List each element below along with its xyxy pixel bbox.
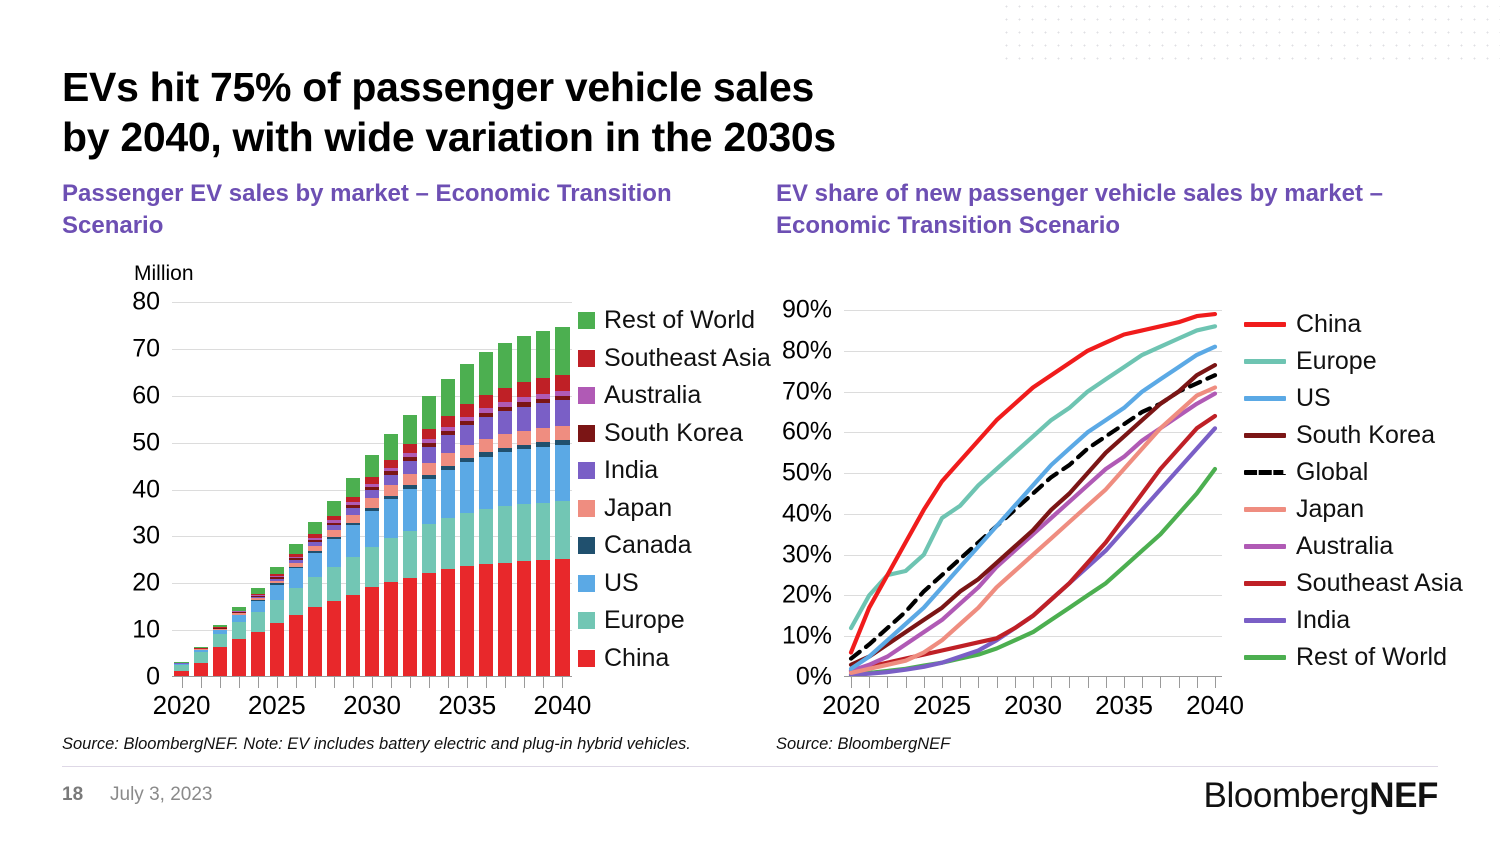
left-chart-bar-segment (441, 453, 455, 466)
left-chart-x-tick-label: 2040 (534, 690, 592, 721)
left-chart-bar (460, 364, 474, 677)
legend-swatch-icon (578, 650, 595, 667)
left-chart-bar (346, 478, 360, 677)
left-chart-bar-segment (346, 478, 360, 496)
left-chart-bar-segment (251, 612, 265, 631)
left-chart-bar-column (420, 302, 439, 677)
left-chart-x-tick (372, 677, 373, 688)
left-chart-bar-segment (498, 411, 512, 434)
left-chart-legend-item[interactable]: Japan (578, 490, 771, 528)
left-chart-x-tick (315, 677, 316, 688)
footer-divider (62, 766, 1438, 767)
left-chart-bar-segment (498, 343, 512, 388)
left-chart-bar-segment (251, 632, 265, 677)
right-chart-x-tick (1160, 677, 1161, 688)
right-chart-legend-label: Southeast Asia (1296, 569, 1463, 598)
left-chart-bar (251, 588, 265, 677)
left-chart-bar-segment (460, 445, 474, 458)
left-chart-bar (479, 352, 493, 677)
right-chart-legend-label: Rest of World (1296, 643, 1447, 672)
left-chart-bar-segment (422, 429, 436, 439)
left-chart-x-tick (486, 677, 487, 688)
right-chart-legend-item[interactable]: South Korea (1244, 417, 1463, 454)
right-chart-x-tick (887, 677, 888, 688)
left-chart-bar-segment (213, 647, 227, 677)
brand-light: Bloomberg (1204, 776, 1370, 815)
right-chart-legend-label: India (1296, 606, 1350, 635)
left-chart-x-tick-label: 2025 (248, 690, 306, 721)
left-chart-bar-segment (403, 461, 417, 474)
left-chart-x-tick (334, 677, 335, 688)
right-chart-x-tick (924, 677, 925, 688)
left-chart-x-tick (562, 677, 563, 688)
left-chart-bar-segment (555, 445, 569, 501)
left-chart-x-tick-label: 2020 (153, 690, 211, 721)
legend-line-icon (1244, 544, 1286, 549)
page-title-line-2: by 2040, with wide variation in the 2030… (62, 112, 1062, 162)
legend-swatch-icon (578, 387, 595, 404)
left-chart-bar-segment (498, 452, 512, 506)
left-chart-bar-segment (308, 577, 322, 607)
right-chart-x-tick (1142, 677, 1143, 688)
left-chart-bar-segment (384, 499, 398, 538)
left-chart-legend-item[interactable]: Rest of World (578, 302, 771, 340)
left-chart-bar (403, 415, 417, 677)
left-chart-bar-segment (479, 509, 493, 564)
left-chart-bar-segment (365, 547, 379, 587)
right-chart-line (851, 365, 1215, 665)
left-chart-bar-segment (536, 378, 550, 394)
left-chart-bar-segment (422, 463, 436, 475)
left-chart-bar (289, 544, 303, 677)
left-chart-bar-segment (232, 639, 246, 677)
right-chart-y-tick-label: 40% (782, 499, 832, 528)
legend-line-icon (1244, 322, 1286, 327)
left-chart-bar-segment (517, 561, 531, 677)
left-chart-bar-column (210, 302, 229, 677)
left-chart-bar-segment (270, 600, 284, 623)
left-chart-legend-item[interactable]: China (578, 640, 771, 678)
left-chart-x-tick (353, 677, 354, 688)
left-chart-bar-segment (517, 407, 531, 431)
left-chart-bar-column (439, 302, 458, 677)
page-title: EVs hit 75% of passenger vehicle sales b… (62, 62, 1062, 162)
left-chart-bar-segment (422, 524, 436, 573)
right-chart-legend: ChinaEuropeUSSouth KoreaGlobalJapanAustr… (1244, 306, 1463, 676)
left-chart-x-labels: 20202025203020352040 (172, 690, 572, 722)
left-chart-legend: Rest of WorldSoutheast AsiaAustraliaSout… (578, 302, 771, 677)
left-chart-bar-segment (251, 601, 265, 612)
left-chart-bar-column (229, 302, 248, 677)
left-chart-bar-segment (441, 470, 455, 518)
left-chart-bar-segment (517, 504, 531, 561)
legend-swatch-icon (578, 612, 595, 629)
right-chart-x-tick-label: 2025 (913, 690, 971, 721)
left-chart-x-tick (182, 677, 183, 688)
right-chart-x-tick (1197, 677, 1198, 688)
left-chart-bar-segment (308, 522, 322, 534)
legend-line-icon (1244, 618, 1286, 623)
right-chart-series-lines (844, 310, 1222, 677)
left-chart-bar-segment (479, 439, 493, 453)
right-chart-x-tick (1088, 677, 1089, 688)
right-chart-panel: 0%10%20%30%40%50%60%70%80%90% 2020202520… (776, 262, 1476, 762)
left-chart-bar-segment (536, 560, 550, 677)
left-chart-x-tick-label: 2035 (438, 690, 496, 721)
left-chart-panel: Million 01020304050607080 20202025203020… (62, 262, 742, 762)
left-chart-y-tick-label: 10 (132, 616, 160, 645)
right-chart-legend-item[interactable]: Global (1244, 454, 1463, 491)
left-chart-bar-segment (441, 518, 455, 569)
left-chart-bar-segment (384, 538, 398, 582)
left-chart-x-tick-label: 2030 (343, 690, 401, 721)
left-chart-bar-segment (517, 431, 531, 445)
legend-line-icon (1244, 396, 1286, 401)
right-chart-legend-label: China (1296, 310, 1361, 339)
left-chart-bar-column (515, 302, 534, 677)
left-chart-legend-item[interactable]: South Korea (578, 415, 771, 453)
left-chart-bar (194, 647, 208, 677)
left-chart-bar-segment (517, 382, 531, 397)
legend-line-icon (1244, 655, 1286, 660)
left-chart-bar-segment (346, 557, 360, 594)
left-chart-bar-segment (384, 485, 398, 495)
left-chart-bar-segment (517, 336, 531, 382)
left-chart-bar-segment (403, 489, 417, 532)
left-chart-bar-segment (289, 544, 303, 554)
right-chart-legend-label: Japan (1296, 495, 1364, 524)
left-chart-bar-segment (403, 474, 417, 485)
left-chart-x-tick (391, 677, 392, 688)
right-chart-legend-label: South Korea (1296, 421, 1435, 450)
left-chart-bar-column (553, 302, 572, 677)
left-chart-x-tick (239, 677, 240, 688)
left-chart-bar-segment (479, 457, 493, 510)
left-chart-legend-label: US (604, 569, 639, 598)
left-chart-x-tick (429, 677, 430, 688)
left-chart-bar-column (458, 302, 477, 677)
left-chart-bar-segment (479, 352, 493, 395)
footer-date: July 3, 2023 (110, 784, 212, 806)
left-chart-x-tick (467, 677, 468, 688)
left-chart-bar-segment (194, 652, 208, 663)
left-chart-legend-label: Australia (604, 381, 701, 410)
right-chart-legend-label: US (1296, 384, 1331, 413)
left-chart-bar (308, 522, 322, 677)
legend-swatch-icon (578, 537, 595, 554)
left-chart-y-tick-label: 50 (132, 428, 160, 457)
right-chart-x-tick (869, 677, 870, 688)
left-chart-bar-segment (346, 515, 360, 523)
right-chart-x-tick (978, 677, 979, 688)
legend-swatch-icon (578, 425, 595, 442)
right-chart-x-labels: 20202025203020352040 (844, 690, 1222, 722)
legend-line-icon (1244, 359, 1286, 364)
left-chart-y-tick-label: 40 (132, 475, 160, 504)
left-chart-bar-segment (289, 568, 303, 588)
left-chart-bar-segment (384, 475, 398, 486)
right-chart-y-tick-label: 60% (782, 418, 832, 447)
right-chart-line (851, 347, 1215, 669)
legend-swatch-icon (578, 462, 595, 479)
left-chart-bar-column (362, 302, 381, 677)
left-chart-bar-segment (536, 428, 550, 442)
left-chart-bars (172, 302, 572, 677)
left-chart-x-ticks (172, 677, 572, 688)
left-chart-bar (384, 434, 398, 677)
left-chart-bar-segment (270, 623, 284, 677)
left-chart-bar (517, 336, 531, 677)
left-chart-x-tick (258, 677, 259, 688)
right-chart-legend-label: Europe (1296, 347, 1377, 376)
left-chart-bar-column (286, 302, 305, 677)
left-chart-bar-segment (536, 447, 550, 503)
left-chart-bar-column (248, 302, 267, 677)
left-chart-bar-segment (479, 564, 493, 677)
left-chart-legend-item[interactable]: Southeast Asia (578, 340, 771, 378)
right-chart-y-tick-label: 0% (796, 663, 832, 692)
left-chart-unit-label: Million (134, 262, 194, 286)
right-chart-line (851, 326, 1215, 628)
left-chart-legend-item[interactable]: Canada (578, 527, 771, 565)
left-chart-source-note: Source: BloombergNEF. Note: EV includes … (62, 735, 691, 754)
left-chart-x-tick (410, 677, 411, 688)
left-chart-x-tick (448, 677, 449, 688)
legend-swatch-icon (578, 312, 595, 329)
right-chart-legend-item[interactable]: US (1244, 380, 1463, 417)
left-chart-bar-segment (479, 417, 493, 439)
left-chart-x-tick (220, 677, 221, 688)
right-chart-y-tick-label: 10% (782, 622, 832, 651)
right-chart-legend-label: Australia (1296, 532, 1393, 561)
legend-line-icon (1244, 581, 1286, 586)
right-chart-x-tick-label: 2020 (822, 690, 880, 721)
right-chart-x-tick (906, 677, 907, 688)
right-chart-x-ticks (844, 677, 1222, 688)
left-chart-bar (232, 607, 246, 677)
left-chart-bar-segment (365, 490, 379, 498)
left-chart-bar-segment (555, 426, 569, 440)
right-chart-y-tick-label: 50% (782, 459, 832, 488)
left-chart-bar-segment (536, 403, 550, 428)
right-chart-y-tick-label: 90% (782, 296, 832, 325)
left-chart-legend-label: Canada (604, 531, 692, 560)
legend-line-icon (1244, 507, 1286, 512)
left-chart-bar-segment (441, 379, 455, 416)
left-chart-bar-segment (555, 501, 569, 559)
right-chart-legend-item[interactable]: Australia (1244, 528, 1463, 565)
footer-page-number: 18 (62, 784, 83, 806)
left-chart-bar (270, 567, 284, 677)
left-chart-bar-segment (460, 462, 474, 513)
right-chart-y-tick-label: 20% (782, 581, 832, 610)
left-chart-bar-column (534, 302, 553, 677)
right-chart-subtitle: EV share of new passenger vehicle sales … (776, 178, 1416, 241)
left-chart-bar-segment (555, 400, 569, 426)
left-chart-bar-segment (555, 375, 569, 391)
legend-line-icon (1244, 470, 1286, 475)
left-chart-bar-segment (289, 615, 303, 677)
right-chart-x-tick (1106, 677, 1107, 688)
left-chart-bar-segment (365, 498, 379, 507)
right-chart-x-tick (942, 677, 943, 688)
left-chart-legend-item[interactable]: Europe (578, 602, 771, 640)
left-chart-bar-segment (327, 501, 341, 516)
left-chart-bar-column (343, 302, 362, 677)
left-chart-bar-segment (327, 601, 341, 677)
left-chart-bar-segment (555, 327, 569, 375)
left-chart-bar-segment (403, 444, 417, 453)
left-chart-bar-segment (460, 364, 474, 404)
left-chart-legend-item[interactable]: Australia (578, 377, 771, 415)
left-chart-bar-segment (498, 388, 512, 403)
legend-swatch-icon (578, 500, 595, 517)
right-chart-legend-label: Global (1296, 458, 1368, 487)
left-chart-bar-segment (289, 588, 303, 615)
left-chart-legend-label: Southeast Asia (604, 344, 771, 373)
right-chart-x-tick (1179, 677, 1180, 688)
right-chart-plot-area: 0%10%20%30%40%50%60%70%80%90% 2020202520… (844, 310, 1222, 677)
left-chart-bar-segment (384, 460, 398, 468)
left-chart-bar-segment (308, 553, 322, 577)
left-chart-bar-segment (270, 567, 284, 575)
left-chart-bar (213, 625, 227, 677)
right-chart-legend-item[interactable]: Southeast Asia (1244, 565, 1463, 602)
right-chart-x-tick (960, 677, 961, 688)
left-chart-legend-label: South Korea (604, 419, 743, 448)
left-chart-bar-column (496, 302, 515, 677)
left-chart-y-tick-label: 30 (132, 522, 160, 551)
left-chart-bar (422, 396, 436, 677)
left-chart-bar-segment (327, 539, 341, 567)
right-chart-x-tick-label: 2035 (1095, 690, 1153, 721)
left-chart-bar-segment (384, 434, 398, 459)
legend-swatch-icon (578, 575, 595, 592)
left-chart-bar-column (267, 302, 286, 677)
left-chart-bar (498, 343, 512, 677)
brand-bold: NEF (1369, 776, 1438, 815)
left-chart-bar-segment (536, 503, 550, 561)
left-chart-bar-segment (441, 569, 455, 677)
left-chart-y-tick-label: 80 (132, 288, 160, 317)
left-chart-bar-segment (517, 449, 531, 504)
right-chart-legend-item[interactable]: Rest of World (1244, 639, 1463, 676)
left-chart-x-tick (543, 677, 544, 688)
left-chart-bar-column (172, 302, 191, 677)
left-chart-bar-segment (213, 634, 227, 648)
left-chart-bar-segment (232, 622, 246, 638)
right-chart-legend-item[interactable]: Europe (1244, 343, 1463, 380)
left-chart-bar-segment (498, 434, 512, 448)
left-chart-y-tick-label: 20 (132, 569, 160, 598)
legend-line-icon (1244, 433, 1286, 438)
left-chart-bar-segment (270, 585, 284, 600)
left-chart-bar-segment (498, 506, 512, 562)
left-chart-bar-segment (460, 566, 474, 677)
left-chart-bar-segment (308, 607, 322, 677)
left-chart-y-tick-label: 0 (146, 663, 160, 692)
left-chart-bar-segment (422, 396, 436, 429)
left-chart-x-tick (277, 677, 278, 688)
left-chart-bar-segment (365, 455, 379, 477)
right-chart-x-tick (851, 677, 852, 688)
left-chart-legend-label: Rest of World (604, 306, 755, 335)
left-chart-bar-segment (403, 578, 417, 677)
left-chart-plot-area: 01020304050607080 20202025203020352040 (172, 302, 572, 677)
right-chart-x-tick (997, 677, 998, 688)
left-chart-bar-column (191, 302, 210, 677)
left-chart-bar-segment (479, 395, 493, 409)
left-chart-bar (555, 327, 569, 677)
legend-swatch-icon (578, 350, 595, 367)
left-chart-legend-item[interactable]: US (578, 565, 771, 603)
right-chart-legend-item[interactable]: Japan (1244, 491, 1463, 528)
right-chart-x-tick (1051, 677, 1052, 688)
left-chart-bar-column (477, 302, 496, 677)
left-chart-bar-segment (346, 595, 360, 678)
right-chart-y-tick-label: 70% (782, 377, 832, 406)
left-chart-bar-segment (403, 531, 417, 577)
left-chart-bar-segment (365, 587, 379, 677)
left-chart-y-tick-label: 70 (132, 334, 160, 363)
left-chart-bar-segment (422, 479, 436, 524)
left-chart-bar-segment (441, 435, 455, 453)
left-chart-legend-label: Europe (604, 606, 685, 635)
left-chart-bar-column (324, 302, 343, 677)
left-chart-bar-segment (460, 404, 474, 417)
right-chart-legend-item[interactable]: China (1244, 306, 1463, 343)
left-chart-bar-segment (232, 615, 246, 622)
right-chart-x-tick (1069, 677, 1070, 688)
right-chart-line (851, 428, 1215, 675)
left-chart-x-tick (296, 677, 297, 688)
left-chart-bar-segment (555, 559, 569, 677)
left-chart-y-tick-label: 60 (132, 381, 160, 410)
left-chart-legend-label: India (604, 456, 658, 485)
left-chart-bar-segment (403, 415, 417, 444)
right-chart-source-note: Source: BloombergNEF (776, 735, 950, 754)
left-chart-bar-segment (498, 563, 512, 677)
left-chart-bar-column (401, 302, 420, 677)
right-chart-y-tick-label: 80% (782, 336, 832, 365)
right-chart-legend-item[interactable]: India (1244, 602, 1463, 639)
right-chart-x-tick (1033, 677, 1034, 688)
left-chart-bar-column (382, 302, 401, 677)
right-chart-x-tick (1015, 677, 1016, 688)
dot-grid-decoration (1000, 0, 1500, 62)
left-chart-bar-segment (422, 447, 436, 462)
right-chart-x-tick-label: 2030 (1004, 690, 1062, 721)
left-chart-bar (536, 331, 550, 677)
left-chart-bar-segment (365, 511, 379, 547)
left-chart-bar-segment (441, 416, 455, 427)
left-chart-legend-label: China (604, 644, 669, 673)
left-chart-bar-segment (536, 331, 550, 378)
left-chart-bar-segment (422, 573, 436, 677)
left-chart-subtitle: Passenger EV sales by market – Economic … (62, 178, 702, 241)
bloombergnef-logo: BloombergNEF (1204, 776, 1438, 816)
left-chart-bar-segment (346, 525, 360, 557)
left-chart-x-tick (505, 677, 506, 688)
left-chart-bar-segment (384, 582, 398, 677)
right-chart-x-tick (1215, 677, 1216, 688)
page-title-line-1: EVs hit 75% of passenger vehicle sales (62, 62, 1062, 112)
left-chart-bar-column (305, 302, 324, 677)
left-chart-bar (327, 501, 341, 677)
left-chart-bar-segment (460, 425, 474, 445)
left-chart-legend-item[interactable]: India (578, 452, 771, 490)
left-chart-bar-segment (460, 513, 474, 566)
